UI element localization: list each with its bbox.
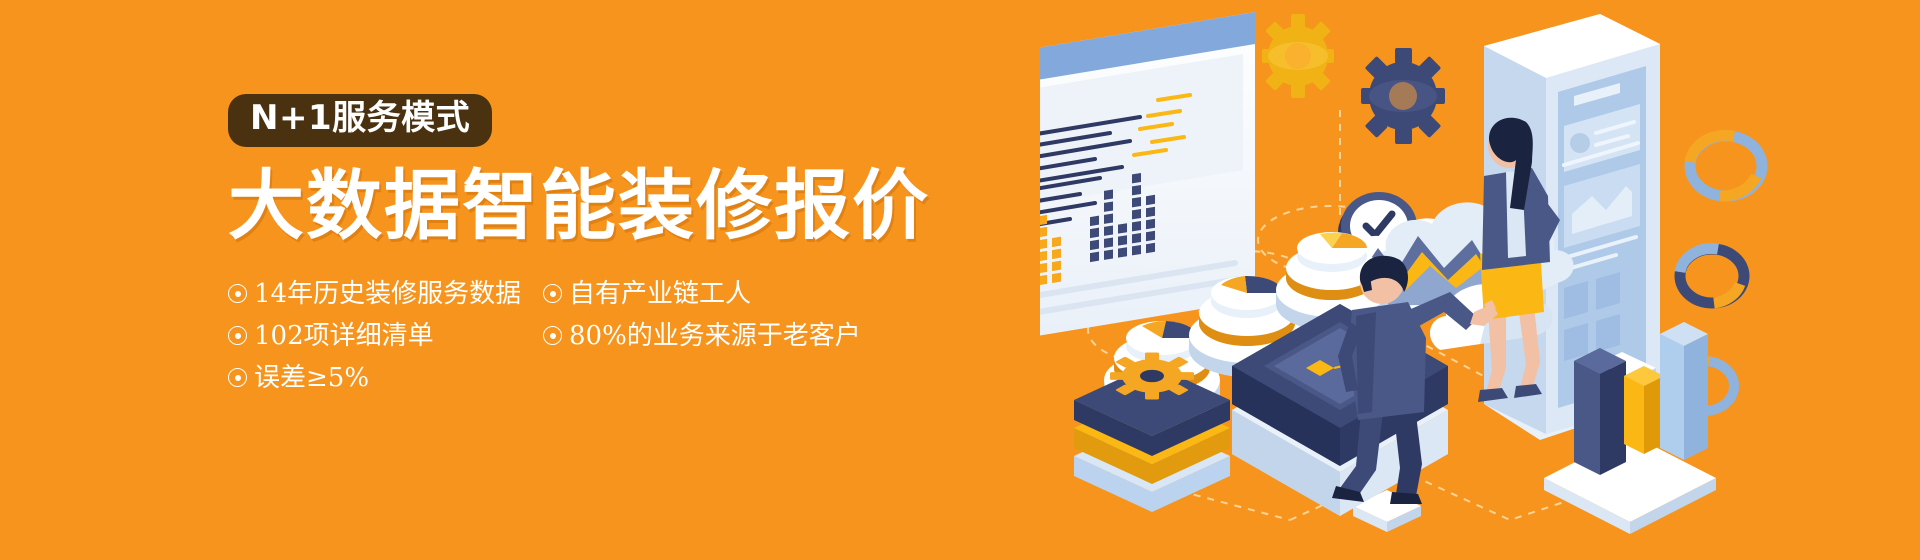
promo-banner: N+1服务模式 大数据智能装修报价 14年历史装修服务数据 自有产业链工人 10… — [0, 0, 1920, 560]
navy-gear-icon — [1361, 48, 1445, 144]
list-item-label: 102项详细清单 — [254, 321, 434, 351]
list-item: 14年历史装修服务数据 — [228, 280, 533, 307]
list-item-label: 80%的业务来源于老客户 — [569, 321, 861, 351]
yellow-gear-icon — [1262, 14, 1334, 98]
page-title: 大数据智能装修报价 — [228, 165, 1008, 247]
list-item-label: 14年历史装修服务数据 — [254, 279, 521, 309]
list-item: 自有产业链工人 — [543, 280, 1008, 307]
bar-navy — [1574, 348, 1626, 475]
isometric-illustration — [1040, 0, 1920, 560]
list-item-label: 误差≥5% — [254, 363, 369, 393]
list-item: 误差≥5% — [228, 364, 533, 391]
circled-dot-icon — [228, 284, 247, 303]
banner-copy: N+1服务模式 大数据智能装修报价 14年历史装修服务数据 自有产业链工人 10… — [228, 94, 1008, 399]
circled-dot-icon — [543, 284, 562, 303]
circled-dot-icon — [228, 368, 247, 387]
list-item: 80%的业务来源于老客户 — [543, 322, 1008, 349]
bar-yellow — [1624, 366, 1664, 454]
service-model-badge: N+1服务模式 — [228, 94, 492, 147]
list-item-label: 自有产业链工人 — [569, 279, 751, 309]
circled-dot-icon — [543, 326, 562, 345]
bar-light-blue — [1660, 322, 1708, 460]
list-item: 102项详细清单 — [228, 322, 533, 349]
feature-list: 14年历史装修服务数据 自有产业链工人 102项详细清单 80%的业务来源于老客… — [228, 273, 1008, 399]
circled-dot-icon — [228, 326, 247, 345]
